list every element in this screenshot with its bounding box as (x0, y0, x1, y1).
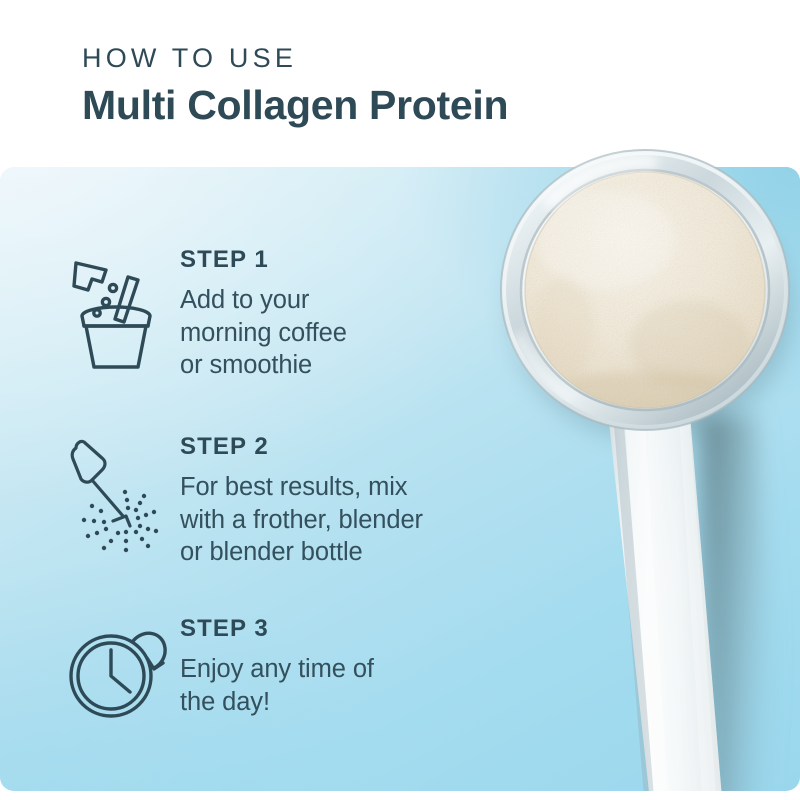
step-3-text: Enjoy any time of the day! (180, 653, 374, 717)
step-1-text: Add to your morning coffee or smoothie (180, 284, 347, 380)
page-title: Multi Collagen Protein (82, 83, 702, 129)
header: HOW TO USE Multi Collagen Protein (82, 44, 702, 129)
how-to-use-infographic: HOW TO USE Multi Collagen Protein (0, 0, 800, 800)
step-1-label: STEP 1 (180, 247, 347, 273)
step-item-3: STEP 3 Enjoy any time of the day! (68, 614, 374, 724)
cup-with-straw-and-scoop-icon (68, 245, 180, 369)
step-2-text: For best results, mix with a frother, bl… (180, 471, 423, 567)
step-2-body: STEP 2 For best results, mix with a frot… (180, 432, 423, 568)
step-3-body: STEP 3 Enjoy any time of the day! (180, 614, 374, 718)
step-1-body: STEP 1 Add to your morning coffee or smo… (180, 245, 347, 381)
eyebrow-label: HOW TO USE (82, 44, 702, 74)
clock-with-arrow-icon (68, 614, 180, 724)
step-item-1: STEP 1 Add to your morning coffee or smo… (68, 245, 347, 381)
step-item-2: STEP 2 For best results, mix with a frot… (68, 432, 423, 568)
step-2-label: STEP 2 (180, 434, 423, 460)
milk-frother-icon (68, 432, 180, 554)
step-3-label: STEP 3 (180, 616, 374, 642)
bottom-white-strip (0, 791, 800, 800)
